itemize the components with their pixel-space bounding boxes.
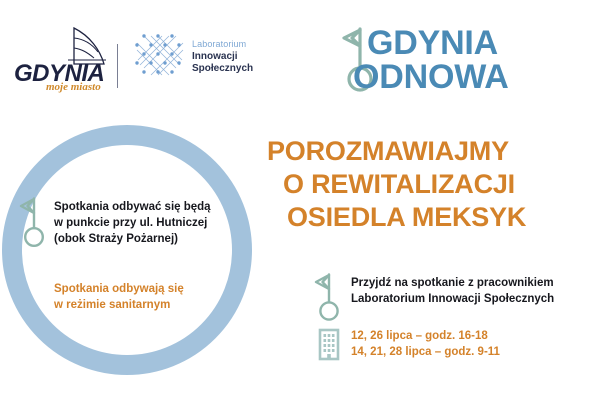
brand-line-odnowa: ODNOWA — [353, 60, 509, 94]
poster-canvas: GDYNIA moje miasto — [0, 0, 600, 400]
lis-line-3: Społecznych — [192, 63, 253, 76]
flag-pole-icon — [18, 196, 46, 248]
logo-divider — [117, 44, 118, 88]
sanitary-note-line-1: Spotkania odbywają się — [54, 281, 184, 297]
location-line-1: Spotkania odbywać się będą — [54, 199, 211, 215]
gdynia-tagline: moje miasto — [46, 82, 101, 93]
invite-line-1: Przyjdź na spotkanie z pracownikiem — [351, 275, 554, 291]
lis-logo: Laboratorium Innowacji Społecznych — [132, 32, 262, 88]
gdynia-city-logo: GDYNIA moje miasto — [14, 26, 114, 96]
sanitary-note-line-2: w reżimie sanitarnym — [54, 297, 184, 313]
lis-logo-text: Laboratorium Innowacji Społecznych — [192, 38, 253, 76]
invite-line-2: Laboratorium Innowacji Społecznych — [351, 291, 554, 307]
flag-pole-icon — [313, 272, 341, 322]
headline-line-2: O REWITALIZACJI — [283, 168, 587, 201]
decorative-ring — [2, 125, 252, 375]
lattice-mark-icon — [132, 32, 186, 86]
location-line-2: w punkcie przy ul. Hutniczej — [54, 215, 211, 231]
dates-text: 12, 26 lipca – godz. 16-18 14, 21, 28 li… — [351, 328, 500, 360]
page-title: POROZMAWIAJMY O REWITALIZACJI OSIEDLA ME… — [267, 135, 587, 234]
location-info-text: Spotkania odbywać się będą w punkcie prz… — [54, 199, 211, 247]
sanitary-note: Spotkania odbywają się w reżimie sanitar… — [54, 281, 184, 313]
lis-line-1: Laboratorium — [192, 38, 253, 51]
building-icon — [316, 327, 342, 361]
location-line-3: (obok Straży Pożarnej) — [54, 231, 211, 247]
headline-line-3: OSIEDLA MEKSYK — [287, 201, 587, 234]
lis-line-2: Innowacji — [192, 51, 253, 64]
brand-line-gdynia: GDYNIA — [367, 26, 498, 60]
headline-line-1: POROZMAWIAJMY — [267, 135, 587, 168]
invite-text: Przyjdź na spotkanie z pracownikiem Labo… — [351, 275, 554, 307]
dates-line-2: 14, 21, 28 lipca – godz. 9-11 — [351, 344, 500, 360]
gdynia-odnowa-brand: GDYNIA ODNOWA — [340, 24, 590, 100]
logo-lockup: GDYNIA moje miasto — [14, 26, 254, 98]
dates-line-1: 12, 26 lipca – godz. 16-18 — [351, 328, 500, 344]
